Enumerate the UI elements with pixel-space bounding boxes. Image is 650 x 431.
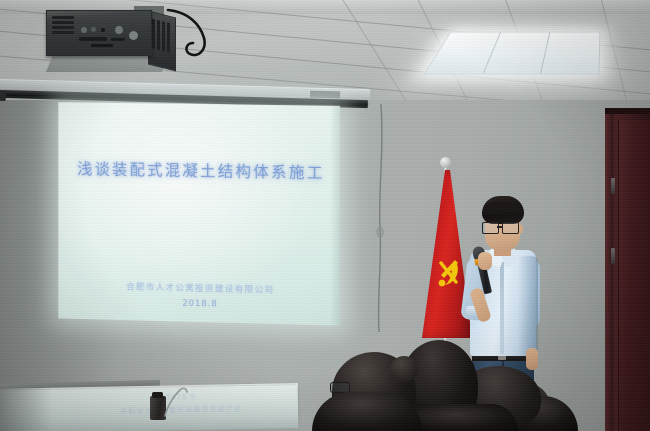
projection-screen: 浅谈装配式混凝土结构体系施工 合肥市人才公寓投资建设有限公司 2018.8 bbox=[58, 102, 340, 325]
shirt-shading bbox=[518, 256, 538, 356]
presentation-photograph: 浅谈装配式混凝土结构体系施工 合肥市人才公寓投资建设有限公司 2018.8 bbox=[0, 0, 650, 431]
flag-finial bbox=[440, 157, 451, 168]
door-frame-edge bbox=[605, 108, 613, 431]
hammer-and-sickle-icon bbox=[436, 258, 462, 290]
projector-body bbox=[46, 10, 152, 56]
door-hinge-lower bbox=[611, 248, 615, 264]
presenter-right-hand bbox=[526, 348, 538, 370]
ceiling-light-panel bbox=[424, 32, 601, 75]
door-hinge-upper bbox=[611, 178, 615, 194]
audience-hair-bun bbox=[390, 356, 418, 382]
hanging-wall-cable-icon bbox=[365, 104, 395, 334]
projector-cable-icon bbox=[164, 8, 224, 64]
table-shadow bbox=[0, 387, 52, 431]
projector bbox=[46, 6, 172, 68]
table-wire-icon bbox=[162, 386, 190, 418]
shirt-placket bbox=[500, 262, 504, 354]
roller-brand-label bbox=[310, 91, 340, 99]
glasses-icon bbox=[482, 222, 523, 232]
presenter-fringe bbox=[482, 202, 523, 217]
presenter-left-hand bbox=[478, 252, 492, 270]
roller-end-cap bbox=[0, 91, 6, 101]
door-header bbox=[605, 108, 650, 114]
door-panel[interactable] bbox=[618, 120, 650, 431]
